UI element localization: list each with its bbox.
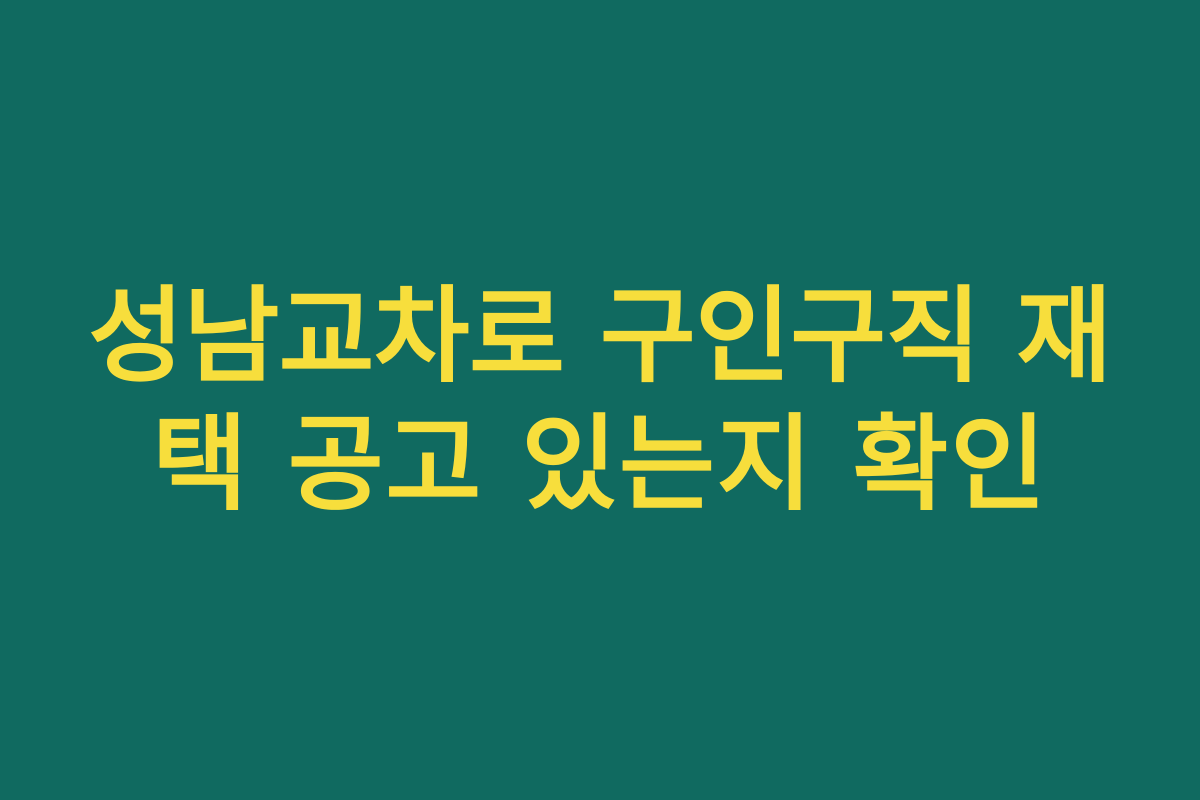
headline-line-2: 택 공고 있는지 확인 (80, 400, 1120, 528)
headline-text: 성남교차로 구인구직 재 택 공고 있는지 확인 (80, 272, 1120, 528)
headline-line-1: 성남교차로 구인구직 재 (80, 272, 1120, 400)
text-banner: 성남교차로 구인구직 재 택 공고 있는지 확인 (0, 0, 1200, 800)
